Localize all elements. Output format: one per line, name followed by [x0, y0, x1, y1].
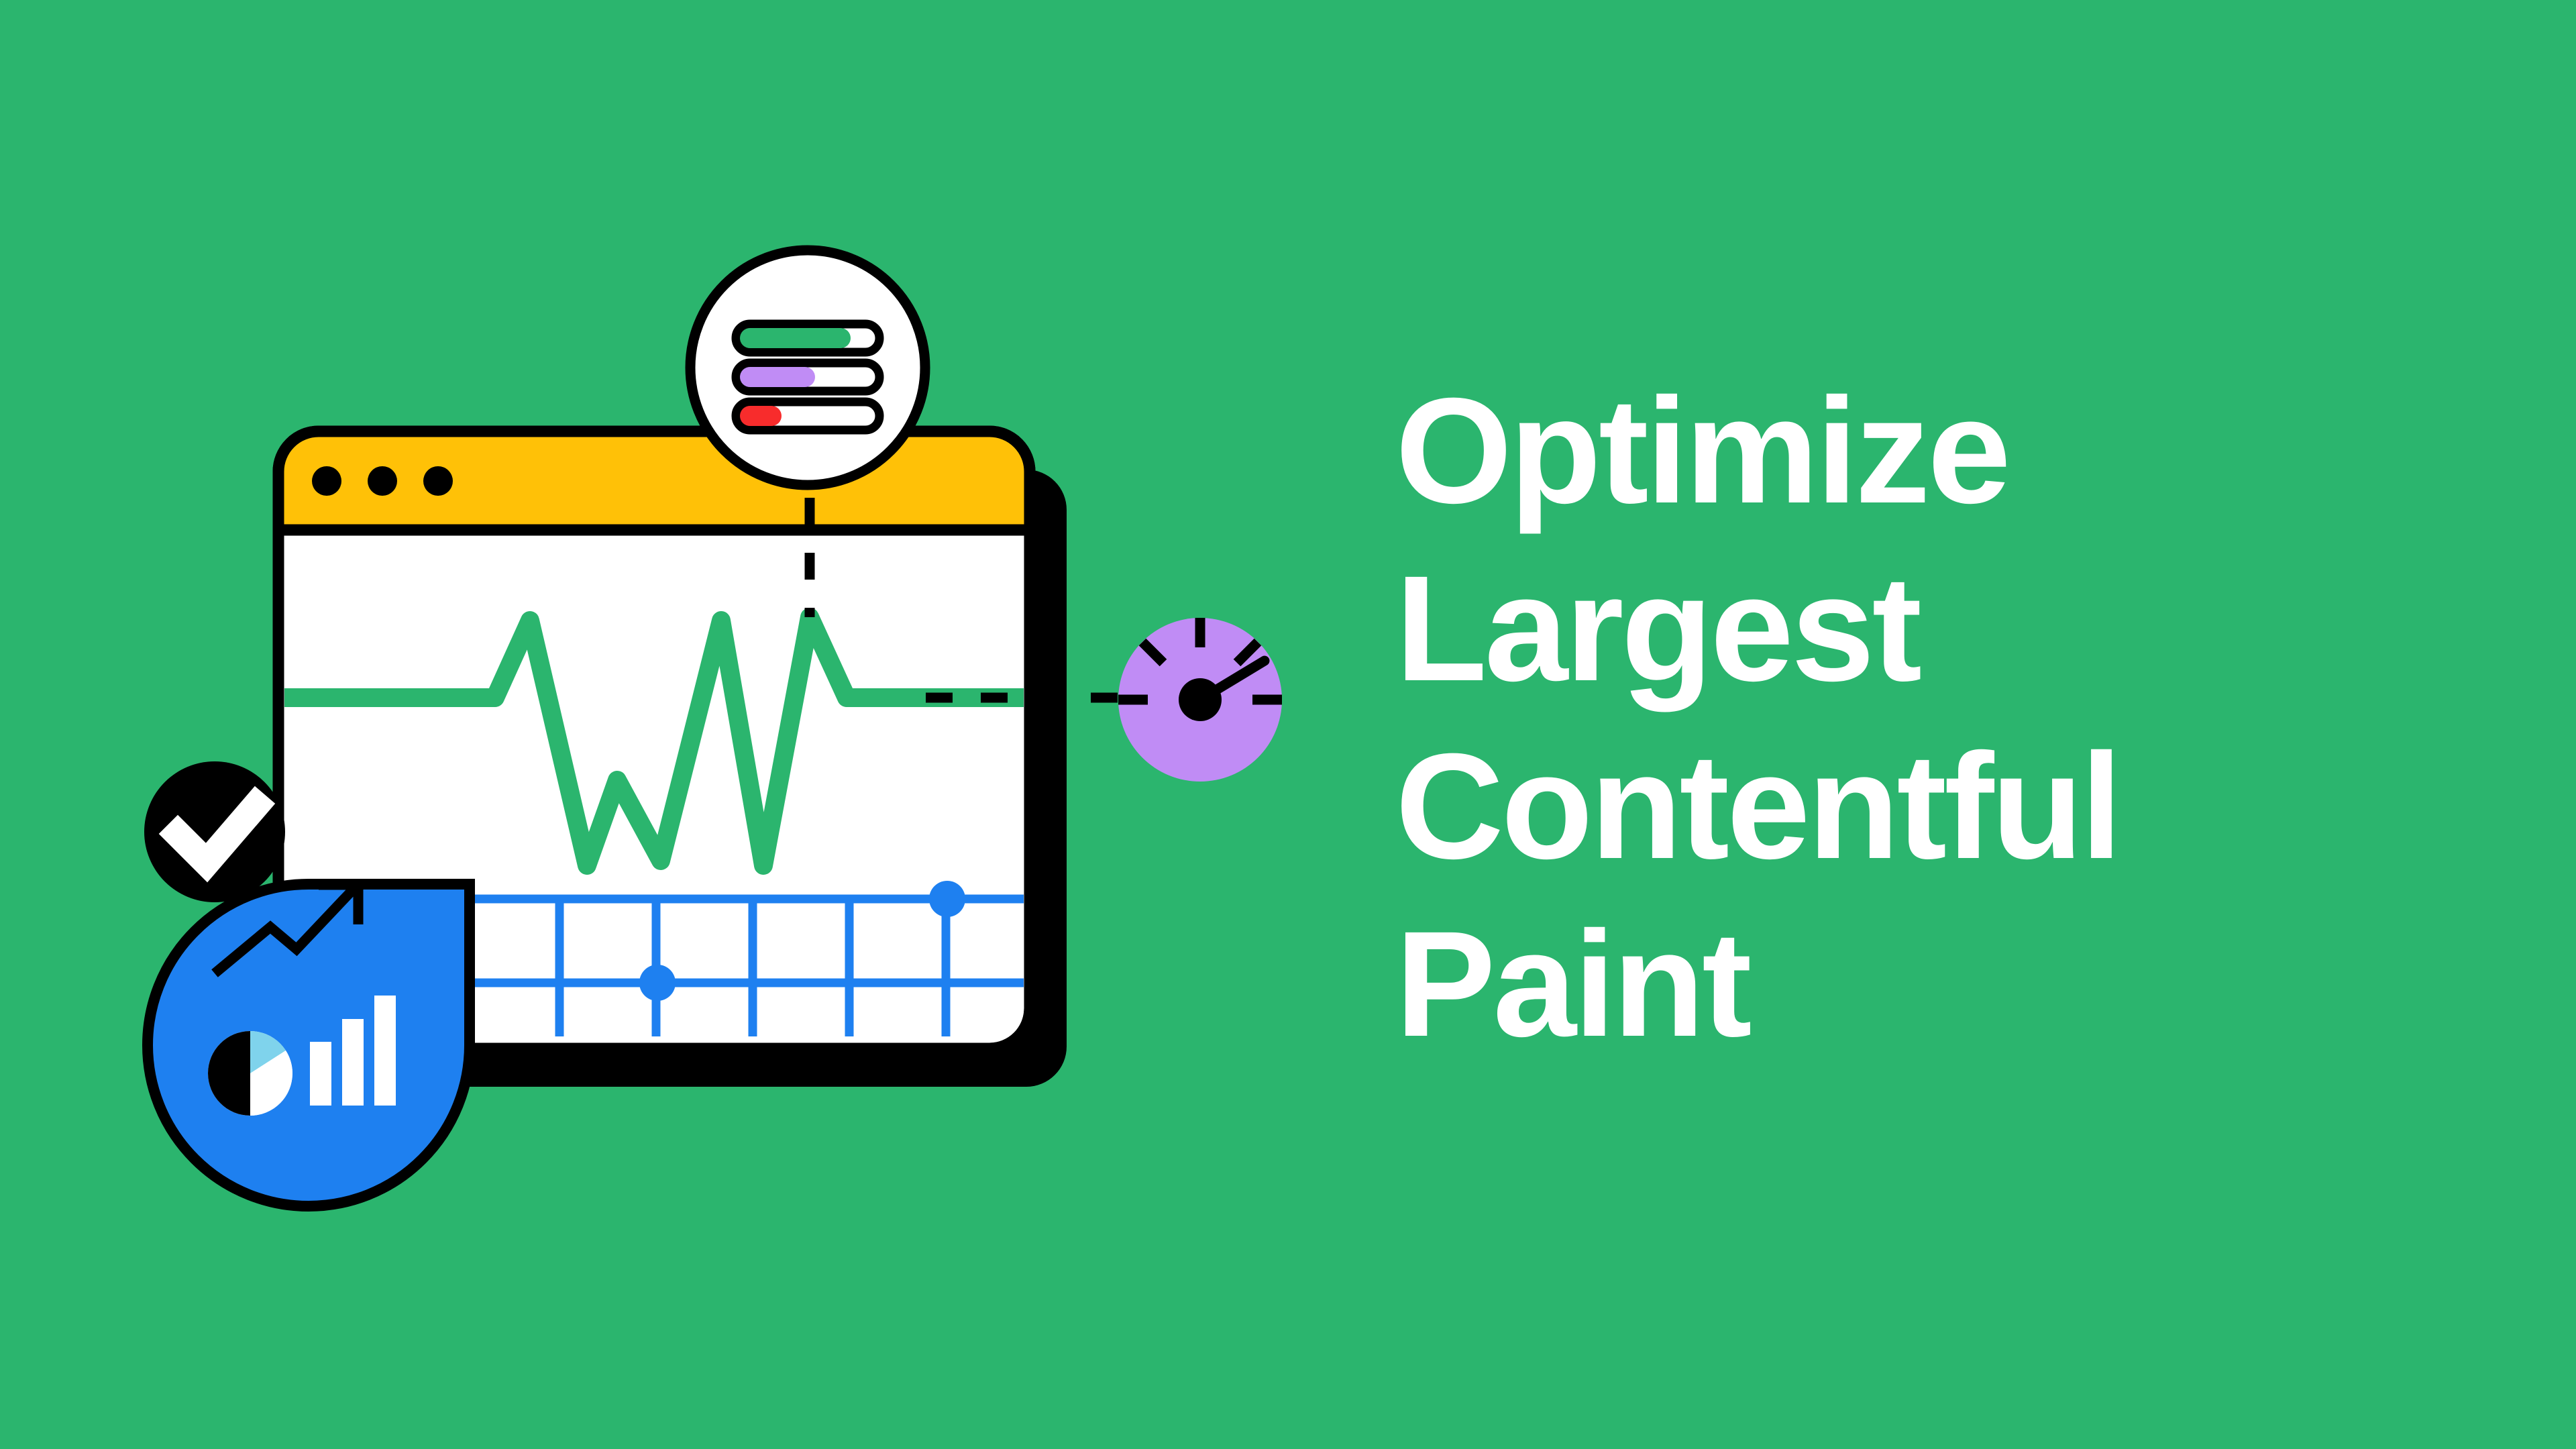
- pie-chart: [208, 1031, 292, 1116]
- metrics-circle-badge[interactable]: [690, 250, 925, 485]
- analytics-bar-2: [342, 1019, 364, 1106]
- hero-canvas: Optimize Largest Contentful Paint: [0, 0, 2576, 1449]
- analytics-bar-1: [310, 1042, 331, 1106]
- speed-gauge-badge[interactable]: [1118, 618, 1282, 782]
- grid-point-2[interactable]: [929, 881, 965, 917]
- metric-bar-purple-fill: [740, 367, 815, 387]
- analytics-teardrop-badge[interactable]: [148, 884, 470, 1206]
- metric-bar-green-fill: [740, 328, 851, 348]
- metric-bar-red-fill: [740, 406, 782, 426]
- window-dot-2[interactable]: [368, 466, 397, 496]
- page-title: Optimize Largest Contentful Paint: [1395, 362, 2368, 1073]
- check-badge[interactable]: [144, 761, 285, 902]
- grid-point-1[interactable]: [639, 965, 676, 1001]
- gauge-hub: [1179, 678, 1222, 721]
- window-dot-1[interactable]: [312, 466, 341, 496]
- analytics-bar-3: [374, 996, 396, 1106]
- window-dot-3[interactable]: [423, 466, 453, 496]
